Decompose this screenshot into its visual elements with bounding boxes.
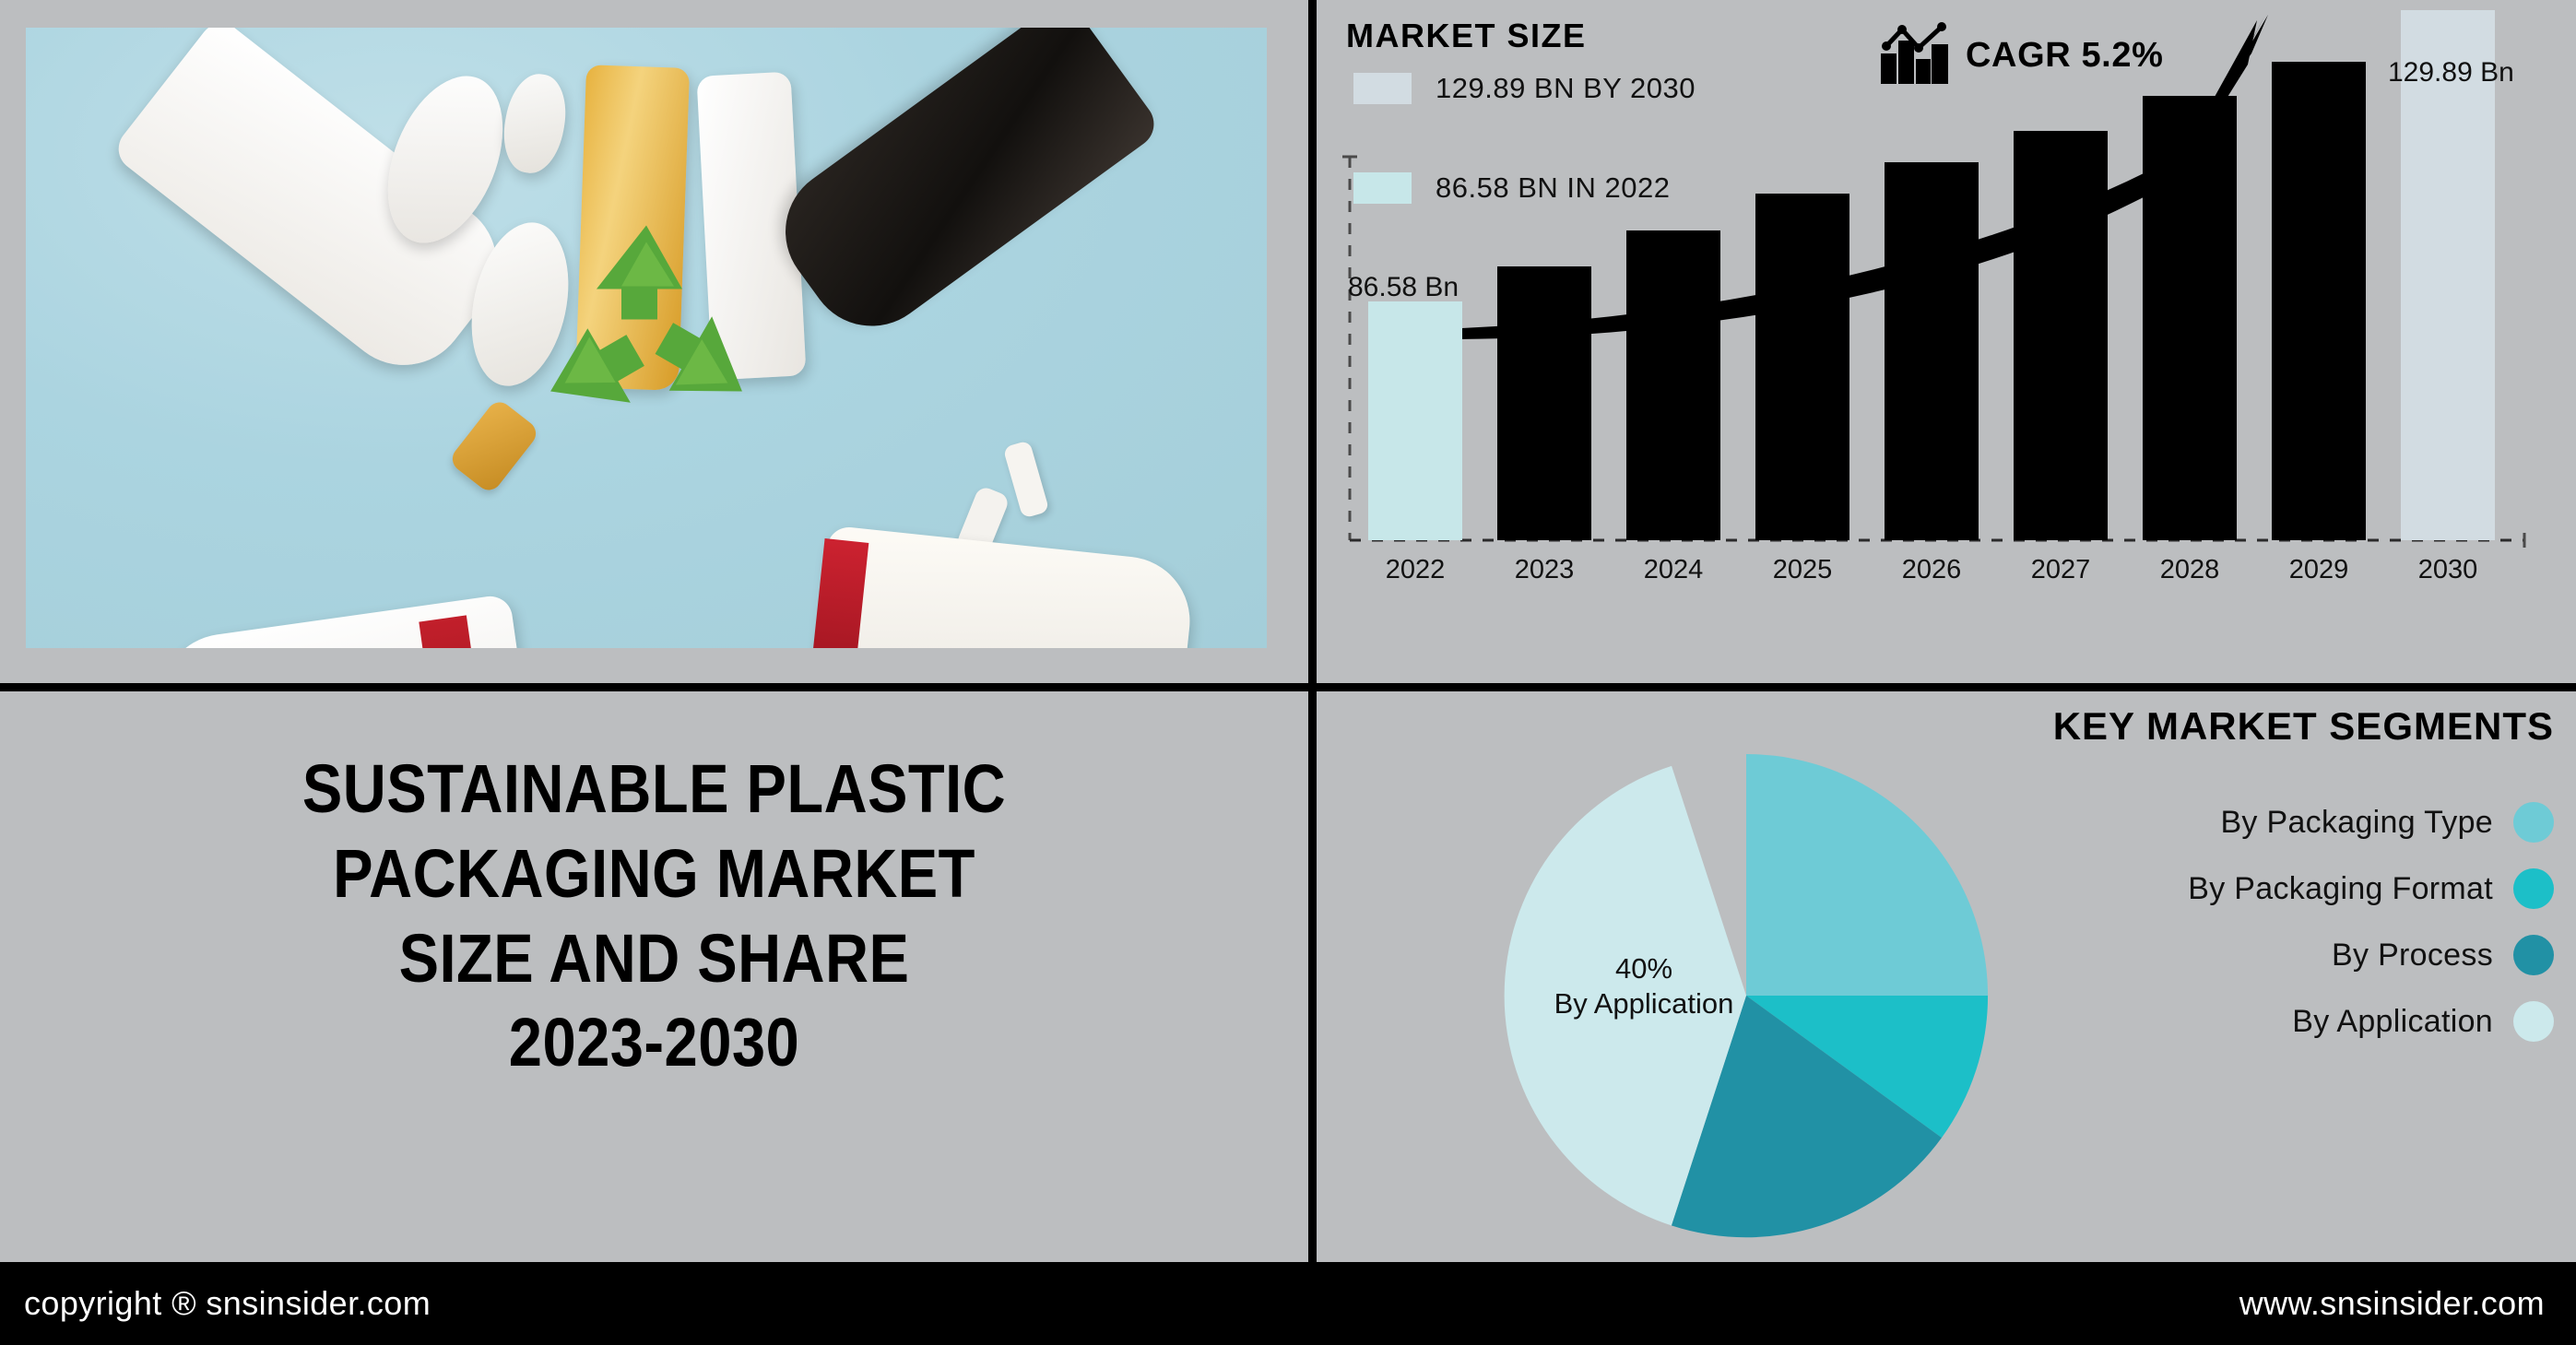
divider-vertical-bottom: [1308, 691, 1317, 1262]
footer-website[interactable]: www.snsinsider.com: [2239, 1284, 2545, 1323]
segment-item-process[interactable]: By Process: [2038, 922, 2554, 988]
divider-horizontal: [0, 683, 2576, 691]
bottle-white-small-top: [497, 69, 573, 177]
segment-item-application[interactable]: By Application: [2038, 988, 2554, 1055]
segment-label-application: By Application: [2292, 1004, 2493, 1040]
headline-line-1: SUSTAINABLE PLASTIC: [78, 747, 1230, 832]
page-title: SUSTAINABLE PLASTIC PACKAGING MARKET SIZ…: [78, 747, 1230, 1085]
cap-white-small-2: [1003, 440, 1050, 518]
headline-line-3: SIZE AND SHARE: [78, 916, 1230, 1001]
pie-callout: 40% By Application: [1529, 951, 1759, 1022]
segment-label-packaging-type: By Packaging Type: [2220, 805, 2493, 841]
product-photo-panel: [0, 0, 1308, 683]
segment-label-packaging-format: By Packaging Format: [2188, 871, 2493, 907]
segment-item-packaging-format[interactable]: By Packaging Format: [2038, 855, 2554, 922]
segment-item-packaging-type[interactable]: By Packaging Type: [2038, 789, 2554, 855]
segment-dot-process: [2513, 935, 2554, 975]
bottle-black-large: [760, 28, 1163, 351]
headline-line-2: PACKAGING MARKET: [78, 832, 1230, 916]
segments-legend: By Packaging Type By Packaging Format By…: [2038, 789, 2554, 1055]
key-market-segments-panel: KEY MARKET SEGMENTS 40% By Application B…: [1317, 691, 2576, 1254]
label-red-right: [806, 538, 869, 648]
segment-dot-application: [2513, 1001, 2554, 1042]
recycling-symbol-icon: [508, 197, 785, 478]
pie-callout-name: By Application: [1529, 986, 1759, 1021]
infographic-root: MARKET SIZE 129.89 BN BY 2030 86.58 BN I…: [0, 0, 2576, 1345]
segments-title: KEY MARKET SEGMENTS: [2053, 704, 2554, 749]
bar-chart-canvas: [1317, 0, 2576, 683]
segment-dot-packaging-type: [2513, 802, 2554, 843]
segment-dot-packaging-format: [2513, 868, 2554, 909]
segments-pie-chart: 40% By Application: [1497, 747, 1995, 1245]
headline-line-4: 2023-2030: [78, 1000, 1230, 1085]
divider-vertical-top: [1308, 0, 1317, 683]
bottle-white-red-label-left: [153, 594, 535, 648]
segment-label-process: By Process: [2332, 938, 2493, 973]
plastic-bottles-photo: [26, 28, 1267, 648]
headline-panel: SUSTAINABLE PLASTIC PACKAGING MARKET SIZ…: [0, 691, 1308, 1254]
market-size-panel: MARKET SIZE 129.89 BN BY 2030 86.58 BN I…: [1317, 0, 2576, 683]
footer-copyright: copyright ® snsinsider.com: [24, 1284, 431, 1323]
footer-bar: copyright ® snsinsider.com www.snsinside…: [0, 1262, 2576, 1345]
pie-callout-pct: 40%: [1529, 951, 1759, 986]
